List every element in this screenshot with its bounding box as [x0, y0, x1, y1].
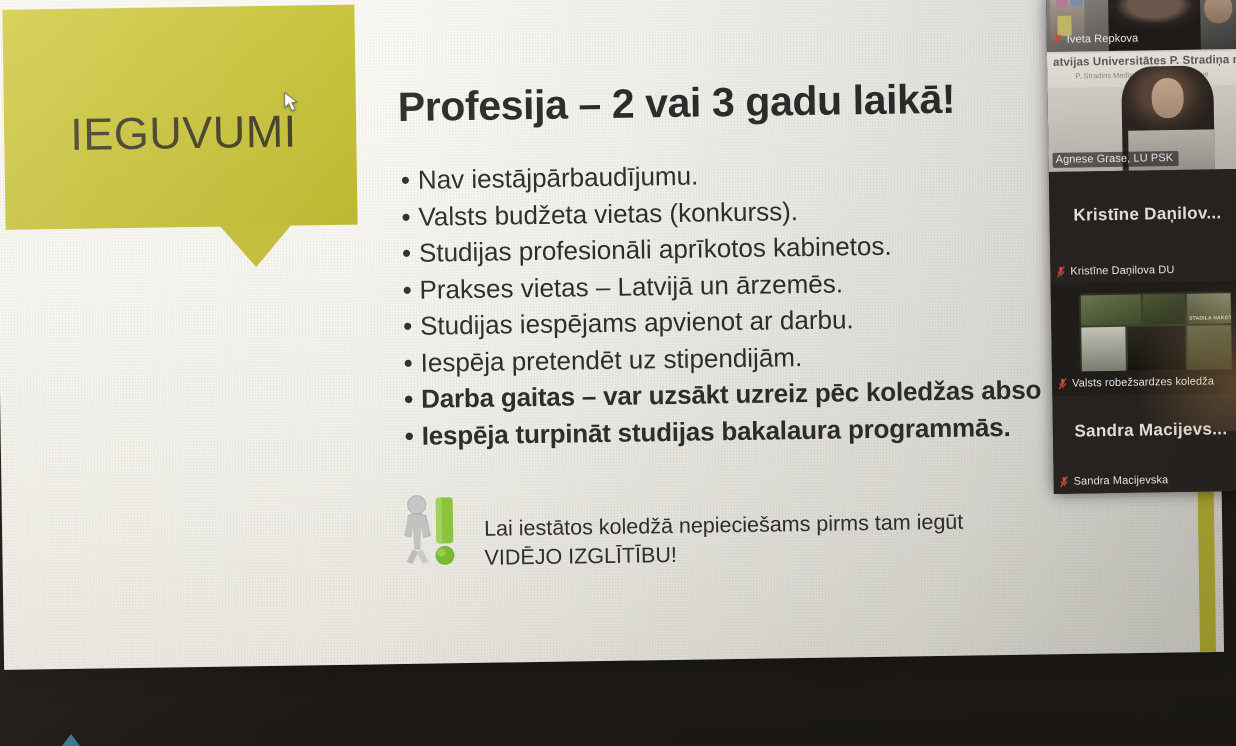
participant-nameplate: Sandra Macijevska	[1058, 473, 1174, 490]
participant-nameplate: Iveta Repkova	[1051, 31, 1144, 47]
taskbar-app-icon[interactable]	[62, 734, 80, 746]
mouse-pointer-icon	[284, 92, 298, 112]
avatar-placeholder-name: Kristīne Daņilov...	[1049, 203, 1236, 226]
slide-title: Profesija – 2 vai 3 gadu laikā!	[397, 75, 1038, 131]
video-tile-kristine-danilova[interactable]: Kristīne Daņilov... Kristīne Daņilova DU	[1049, 169, 1236, 284]
screen-share-thumbnail[interactable]: STADILA NAKOTNE SAKAS SODIT	[1079, 291, 1232, 371]
video-tile-valsts-robezsardzes-koledza[interactable]: STADILA NAKOTNE SAKAS SODIT Valsts robež…	[1051, 281, 1236, 396]
share-region	[1143, 294, 1185, 325]
participant-nameplate: Valsts robežsardzes koledža	[1056, 374, 1219, 392]
person-exclamation-icon	[400, 493, 467, 568]
microphone-muted-icon	[1053, 34, 1062, 46]
slide-note: Lai iestātos koledžā nepieciešams pirms …	[400, 485, 1041, 574]
shelf-object	[1070, 0, 1083, 7]
participant-name: Iveta Repkova	[1067, 33, 1139, 46]
video-tile-iveta-repkova[interactable]: Iveta Repkova	[1046, 0, 1236, 52]
share-region	[1187, 325, 1232, 370]
participant-face	[1204, 0, 1232, 24]
share-region	[1081, 295, 1141, 326]
microphone-muted-icon	[1056, 266, 1065, 278]
video-tile-agnese-grase[interactable]: atvijas Universitātes P. Stradiņa m P. S…	[1047, 49, 1236, 172]
slide-bullet-list: Nav iestājpārbaudījumu. Valsts budžeta v…	[401, 152, 1105, 454]
participant-name: Agnese Grase, LU PSK	[1056, 152, 1174, 166]
microphone-muted-icon	[1060, 476, 1069, 488]
presentation-slide: IEGUVUMI Profesija – 2 vai 3 gadu laikā!…	[0, 0, 1224, 670]
avatar-placeholder-name: Sandra Macijevs...	[1053, 419, 1236, 442]
screenshot-root: IEGUVUMI Profesija – 2 vai 3 gadu laikā!…	[0, 0, 1236, 746]
shelf-object	[1056, 0, 1068, 8]
share-region	[1081, 327, 1126, 372]
share-caption: STADILA NAKOTNE SAKAS SODIT	[1189, 315, 1232, 322]
microphone-muted-icon	[1058, 378, 1067, 390]
callout-label: IEGUVUMI	[70, 106, 297, 161]
callout-tail	[220, 225, 293, 268]
video-conference-filmstrip[interactable]: Iveta Repkova atvijas Universitātes P. S…	[1046, 0, 1236, 494]
video-tile-sandra-macijevska[interactable]: Sandra Macijevs... Sandra Macijevska	[1052, 393, 1236, 494]
participant-face	[1151, 78, 1184, 118]
participant-nameplate: Agnese Grase, LU PSK	[1052, 151, 1178, 168]
ieguvumi-callout: IEGUVUMI	[2, 5, 357, 230]
participant-nameplate: Kristīne Daņilova DU	[1054, 263, 1179, 280]
note-text: Lai iestātos koledžā nepieciešams pirms …	[484, 486, 964, 573]
participant-name: Kristīne Daņilova DU	[1070, 264, 1174, 278]
share-region	[1127, 326, 1186, 371]
participant-name: Valsts robežsardzes koledža	[1072, 375, 1214, 389]
participant-name: Sandra Macijevska	[1074, 474, 1169, 487]
